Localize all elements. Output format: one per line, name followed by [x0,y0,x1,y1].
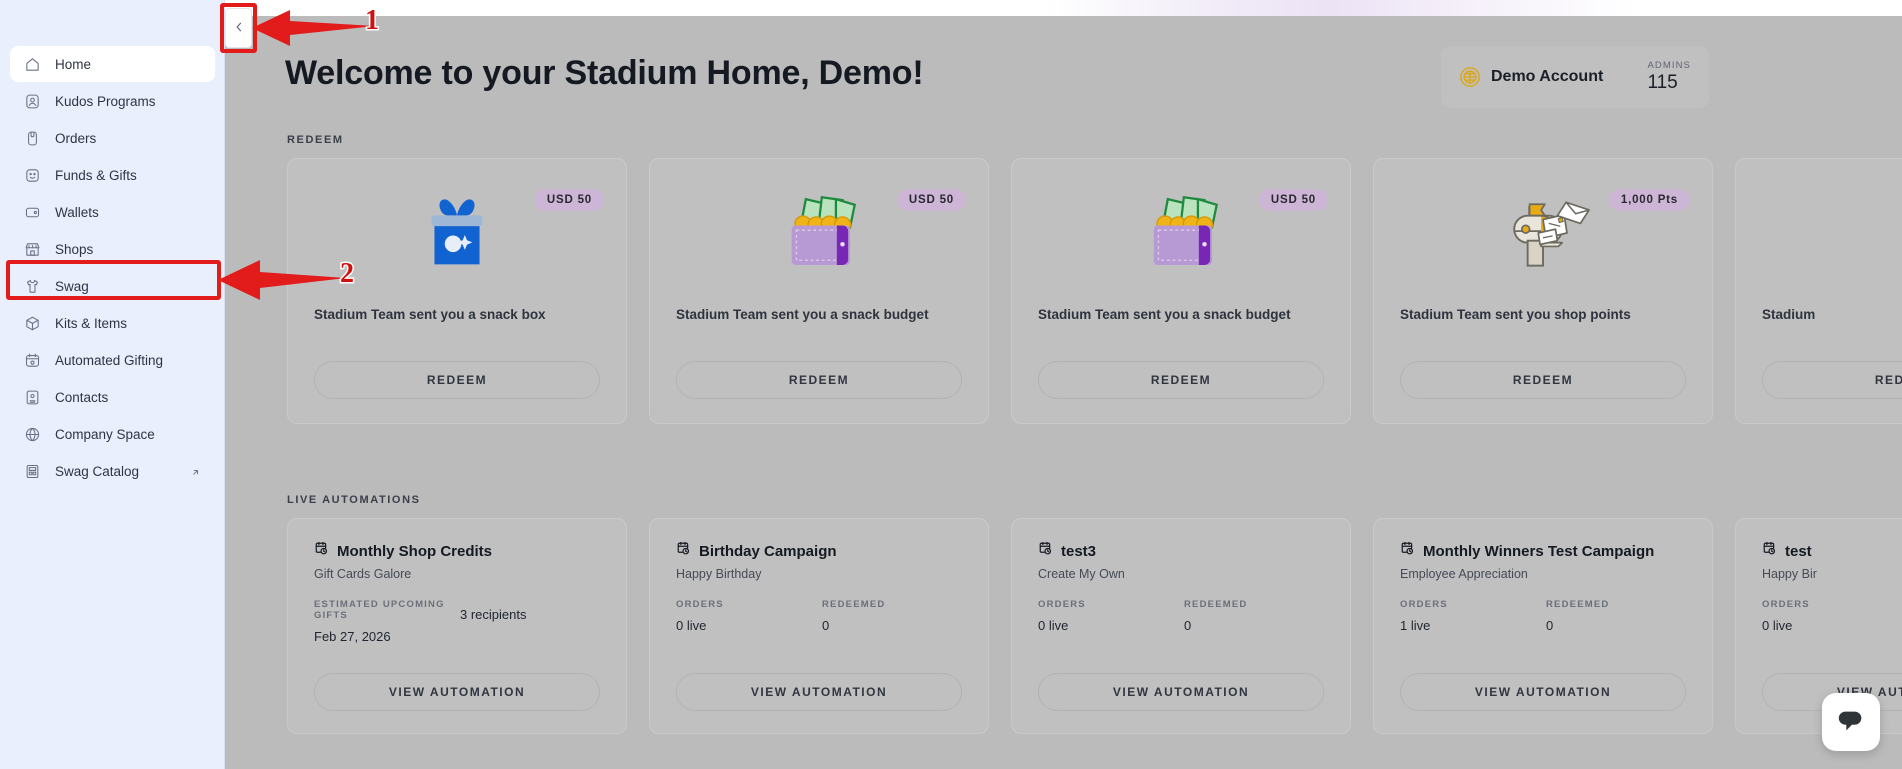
grid-catalog-icon [24,463,41,480]
redeem-value-badge: USD 50 [897,189,966,211]
sidebar-item-orders[interactable]: Orders [10,120,215,156]
sidebar-item-funds-gifts[interactable]: Funds & Gifts [10,157,215,193]
view-automation-button[interactable]: VIEW AUTOMATION [676,673,962,711]
automation-stat-value: 0 [1184,618,1330,633]
sidebar-item-label: Kits & Items [55,316,127,331]
calendar-clock-icon [24,352,41,369]
automation-subtitle: Create My Own [1038,567,1125,581]
automation-stat-value: 0 [822,618,968,633]
sidebar-item-label: Kudos Programs [55,94,156,109]
automation-stat-label: REDEEMED [1546,599,1692,610]
automation-card-header: test [1762,541,1812,561]
wallet-icon [24,204,41,221]
redeem-card[interactable]: USD 50Stadium Team sent you a snack budg… [649,158,989,424]
automation-stat: ORDERS0 live [1762,599,1902,633]
box-cube-icon [24,315,41,332]
sidebar-collapse-button[interactable] [225,8,252,48]
chat-bubble-icon [1836,705,1866,740]
redeem-card-title: Stadium Team sent you shop points [1400,307,1692,322]
redeem-card-title: Stadium Team sent you a snack budget [1038,307,1330,322]
redeem-button[interactable]: REDEEM [314,361,600,399]
redeem-button[interactable]: REDEEM [1038,361,1324,399]
automation-stat-value: Feb 27, 2026 [314,629,460,644]
automation-subtitle: Employee Appreciation [1400,567,1528,581]
automation-stats: ORDERS0 liveREDEEMED0 [1038,599,1324,633]
sidebar-item-contacts[interactable]: Contacts [10,379,215,415]
automation-card-header: Birthday Campaign [676,541,837,561]
redeem-art [1736,181,1902,285]
redeem-value-badge: USD 50 [1259,189,1328,211]
sidebar-item-shops[interactable]: Shops [10,231,215,267]
automation-stat: 3 recipients [460,599,606,644]
account-summary-pill[interactable]: Demo Account ADMINS 115 [1441,46,1709,108]
automation-stat-label: ORDERS [1400,599,1546,610]
badge-person-icon [24,93,41,110]
home-icon [24,56,41,73]
coin-globe-icon [1459,66,1481,88]
automation-card-header: Monthly Winners Test Campaign [1400,541,1654,561]
sidebar-item-kudos-programs[interactable]: Kudos Programs [10,83,215,119]
sidebar-item-label: Home [55,57,91,72]
automation-stats: ORDERS0 live [1762,599,1902,633]
sidebar-nav: HomeKudos ProgramsOrdersFunds & GiftsWal… [10,46,215,490]
automation-stat-value: 1 live [1400,618,1546,633]
sidebar-item-label: Swag [55,279,89,294]
sidebar-item-home[interactable]: Home [10,46,215,82]
sidebar-item-automated-gifting[interactable]: Automated Gifting [10,342,215,378]
sidebar-item-label: Swag Catalog [55,464,139,479]
admins-count: 115 [1647,72,1691,94]
automation-stat-label: REDEEMED [822,599,968,610]
automation-name: Monthly Winners Test Campaign [1423,543,1654,560]
automation-card[interactable]: Birthday CampaignHappy BirthdayORDERS0 l… [649,518,989,734]
automation-card[interactable]: Monthly Winners Test CampaignEmployee Ap… [1373,518,1713,734]
automation-recurring-icon [676,541,691,561]
admins-block: ADMINS 115 [1647,60,1691,94]
automation-name: test3 [1061,543,1096,560]
top-decorative-strip [0,0,1902,16]
sidebar-item-label: Orders [55,131,96,146]
sidebar-item-label: Automated Gifting [55,353,163,368]
automation-card[interactable]: test3Create My OwnORDERS0 liveREDEEMED0V… [1011,518,1351,734]
sidebar-item-wallets[interactable]: Wallets [10,194,215,230]
view-automation-button[interactable]: VIEW AUTOMATION [1400,673,1686,711]
automation-stat: REDEEMED0 [1546,599,1692,633]
sidebar-item-label: Contacts [55,390,108,405]
redeem-card-title: Stadium Team sent you a snack box [314,307,606,322]
redeem-card-title: Stadium Team sent you a snack budget [676,307,968,322]
sidebar: HomeKudos ProgramsOrdersFunds & GiftsWal… [0,0,225,769]
automations-card-rail[interactable]: Monthly Shop CreditsGift Cards GaloreEST… [287,518,1902,734]
sidebar-item-label: Funds & Gifts [55,168,137,183]
automation-recurring-icon [1038,541,1053,561]
order-box-icon [24,130,41,147]
automation-card[interactable]: Monthly Shop CreditsGift Cards GaloreEST… [287,518,627,734]
automation-stat-value: 0 live [1038,618,1184,633]
redeem-button[interactable]: REDEEM [1762,361,1902,399]
sidebar-item-company-space[interactable]: Company Space [10,416,215,452]
chevron-left-icon [233,21,245,36]
automation-subtitle: Gift Cards Galore [314,567,411,581]
automation-stats: ORDERS0 liveREDEEMED0 [676,599,962,633]
sidebar-item-label: Wallets [55,205,99,220]
sidebar-item-label: Shops [55,242,93,257]
app-root: Welcome to your Stadium Home, Demo! Demo… [0,0,1902,769]
automation-name: Monthly Shop Credits [337,543,492,560]
automation-stat: ESTIMATED UPCOMING GIFTSFeb 27, 2026 [314,599,460,644]
redeem-card[interactable]: USD 50Stadium Team sent you a snack budg… [1011,158,1351,424]
automation-stat-value: 3 recipients [460,607,606,622]
automation-recurring-icon [1762,541,1777,561]
page-title: Welcome to your Stadium Home, Demo! [285,54,923,93]
automation-stat: ORDERS0 live [1038,599,1184,633]
automation-card-header: test3 [1038,541,1096,561]
automation-name: Birthday Campaign [699,543,837,560]
view-automation-button[interactable]: VIEW AUTOMATION [314,673,600,711]
redeem-button[interactable]: REDEEM [676,361,962,399]
contact-card-icon [24,389,41,406]
sidebar-item-swag[interactable]: Swag [10,268,215,304]
account-name: Demo Account [1491,68,1603,86]
automation-stat: REDEEMED0 [1184,599,1330,633]
automation-stats: ESTIMATED UPCOMING GIFTSFeb 27, 20263 re… [314,599,600,644]
redeem-value-badge: 1,000 Pts [1609,189,1690,211]
automation-stat-label: ORDERS [1762,599,1902,610]
automation-card-header: Monthly Shop Credits [314,541,492,561]
redeem-card-rail[interactable]: USD 50Stadium Team sent you a snack boxR… [287,158,1902,424]
automation-subtitle: Happy Birthday [676,567,761,581]
automation-stat-value: 0 live [1762,618,1902,633]
sidebar-item-swag-catalog[interactable]: Swag Catalog [10,453,215,489]
sidebar-item-kits-items[interactable]: Kits & Items [10,305,215,341]
main-content: Welcome to your Stadium Home, Demo! Demo… [225,16,1902,769]
redeem-card-title: Stadium [1762,307,1902,322]
storefront-icon [24,241,41,258]
automation-recurring-icon [314,541,329,561]
automation-stat: ORDERS1 live [1400,599,1546,633]
automations-section-label: LIVE AUTOMATIONS [287,494,421,506]
view-automation-button[interactable]: VIEW AUTOMATION [1038,673,1324,711]
arrow-up-right-icon [190,466,201,477]
redeem-section-label: REDEEM [287,134,344,146]
redeem-button[interactable]: REDEEM [1400,361,1686,399]
automation-stat-label: ESTIMATED UPCOMING GIFTS [314,599,460,621]
redeem-card[interactable]: USD 50Stadium Team sent you a snack boxR… [287,158,627,424]
automation-name: test [1785,543,1812,560]
tshirt-icon [24,278,41,295]
automation-stat-label: ORDERS [1038,599,1184,610]
redeem-value-badge: USD 50 [535,189,604,211]
globe-icon [24,426,41,443]
automation-stat-value: 0 [1546,618,1692,633]
redeem-card[interactable]: StadiumREDEEM [1735,158,1902,424]
automation-stat-label: REDEEMED [1184,599,1330,610]
automation-stat-label: ORDERS [676,599,822,610]
funds-face-icon [24,167,41,184]
admins-label: ADMINS [1647,60,1691,71]
automation-stat: REDEEMED0 [822,599,968,633]
chat-launcher-button[interactable] [1822,693,1880,751]
sidebar-item-label: Company Space [55,427,155,442]
automation-stats: ORDERS1 liveREDEEMED0 [1400,599,1686,633]
automation-stat: ORDERS0 live [676,599,822,633]
automation-subtitle: Happy Bir [1762,567,1817,581]
redeem-card[interactable]: 1,000 PtsStadium Team sent you shop poin… [1373,158,1713,424]
automation-recurring-icon [1400,541,1415,561]
automation-stat-value: 0 live [676,618,822,633]
